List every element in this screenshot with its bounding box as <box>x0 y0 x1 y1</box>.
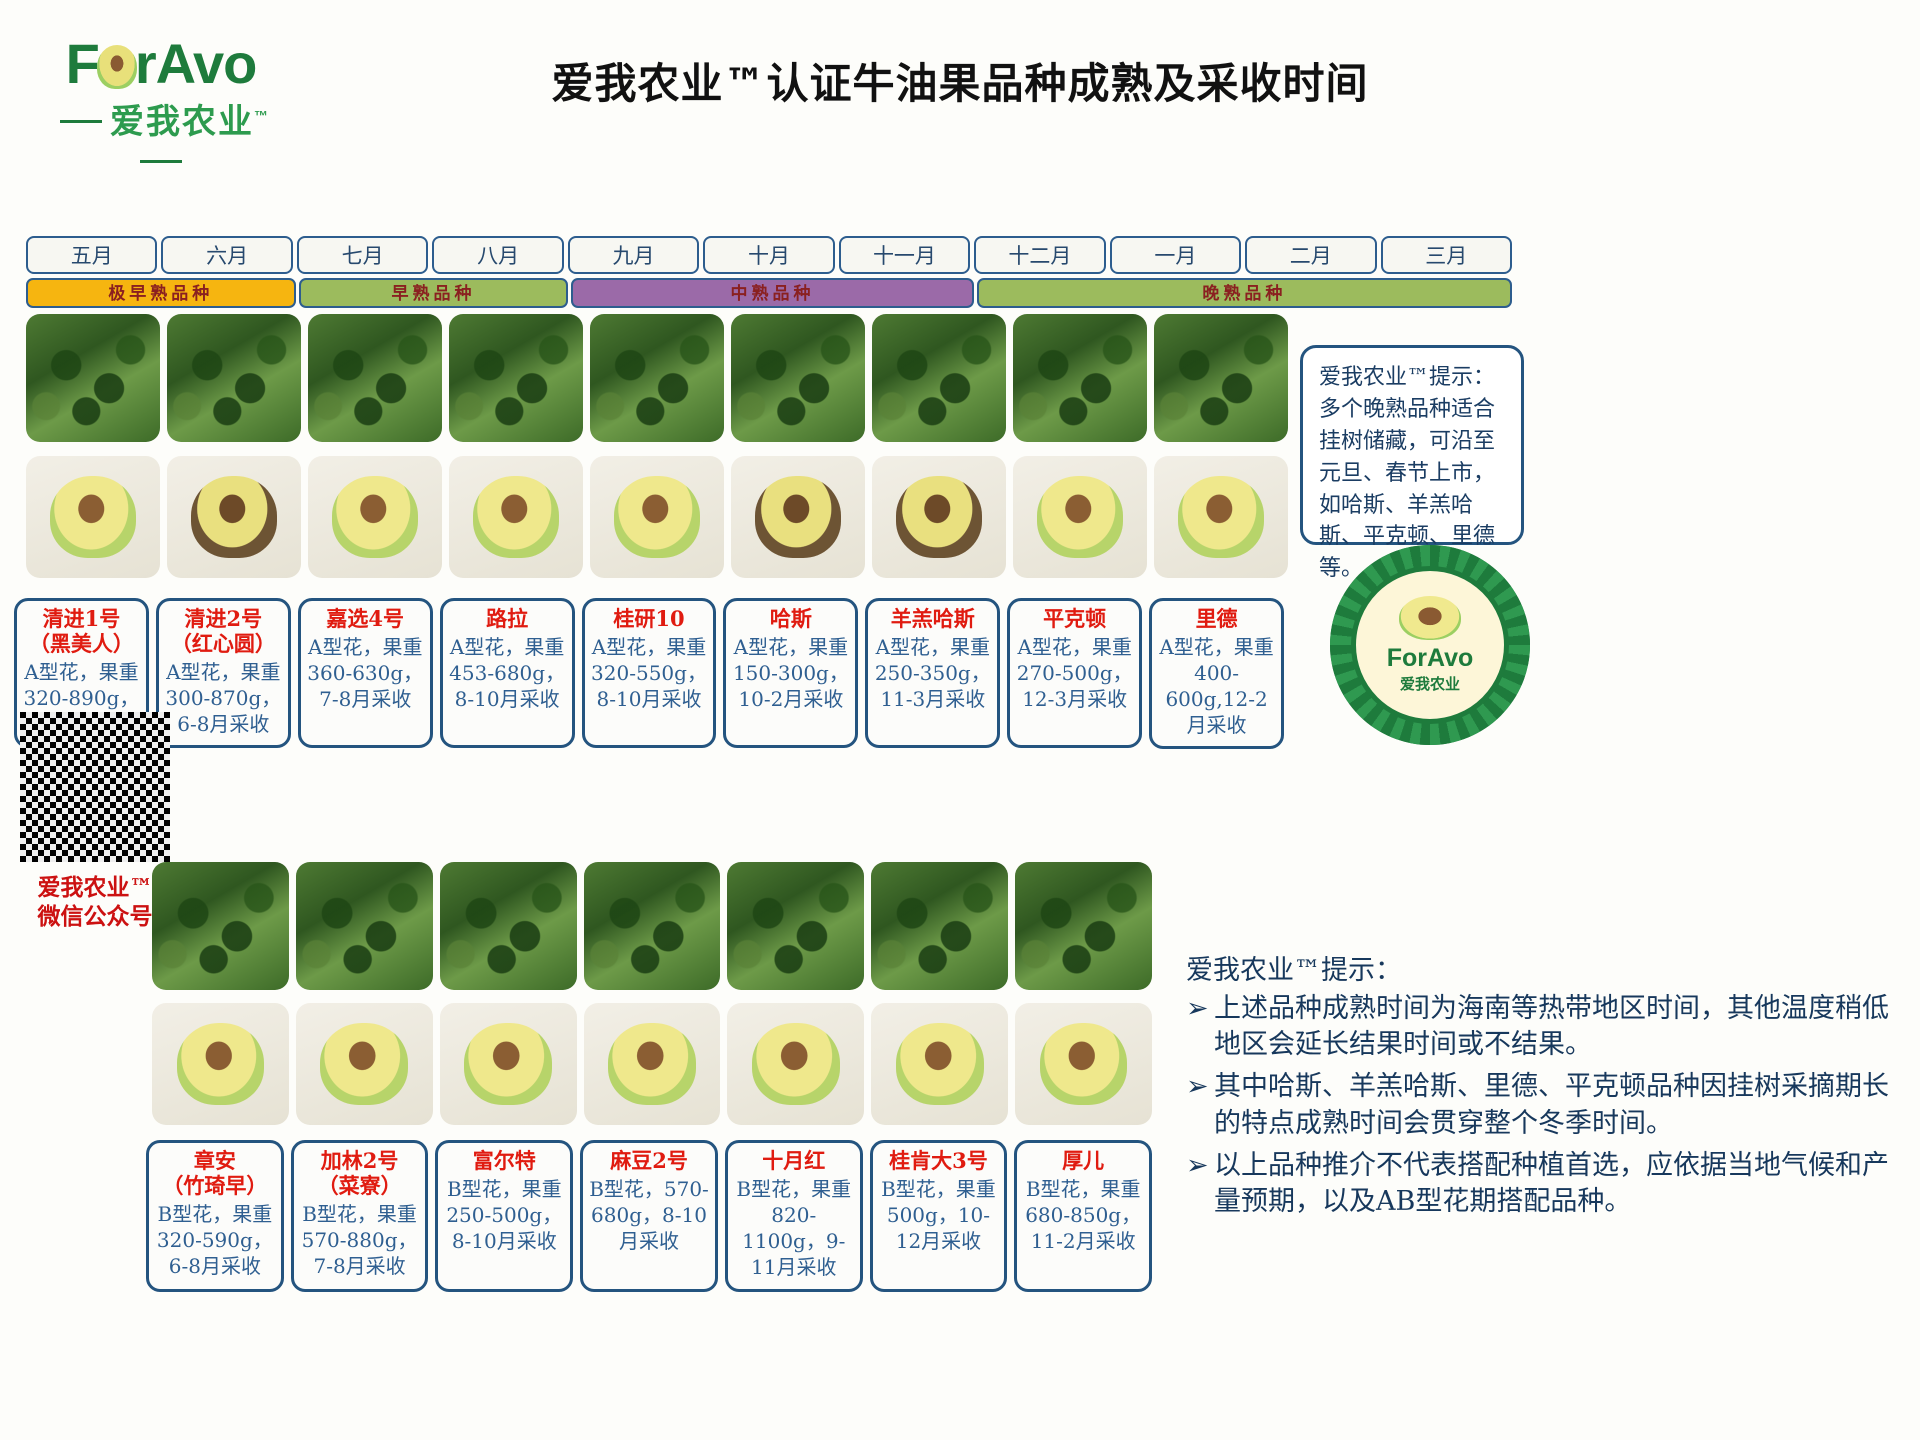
variety-description: A型花，果重250-350g，11-3月采收 <box>873 634 992 712</box>
arrow-bullet-icon: ➢ <box>1186 991 1214 1063</box>
fruit-photo <box>167 456 301 578</box>
row1-variety-cards: 清进1号（黑美人）A型花，果重320-890g，5-7月采收清进2号（红心圆）A… <box>14 598 1284 749</box>
variety-description: A型花，果重360-630g，7-8月采收 <box>306 634 425 712</box>
month-cell: 八月 <box>432 236 563 274</box>
variety-name: 富尔特 <box>443 1149 565 1174</box>
variety-name: 羊羔哈斯 <box>873 607 992 632</box>
logo-tm: ™ <box>254 108 270 124</box>
variety-name: 十月红 <box>733 1149 855 1174</box>
variety-description: B型花，果重250-500g，8-10月采收 <box>443 1176 565 1254</box>
tree-photo <box>1015 862 1152 990</box>
fruit-photo <box>731 456 865 578</box>
logo-subtitle-text: 爱我农业 <box>110 103 254 141</box>
season-band: 早熟品种 <box>299 278 569 308</box>
variety-card[interactable]: 哈斯A型花，果重150-300g，10-2月采收 <box>723 598 858 748</box>
tree-photo <box>584 862 721 990</box>
tree-photo <box>727 862 864 990</box>
row2-variety-cards: 章安（竹琦早）B型花，果重320-590g，6-8月采收加林2号（菜寮）B型花，… <box>146 1140 1152 1292</box>
season-band: 中熟品种 <box>571 278 973 308</box>
month-cell: 九月 <box>568 236 699 274</box>
variety-name: 章安 <box>154 1149 276 1174</box>
variety-card[interactable]: 章安（竹琦早）B型花，果重320-590g，6-8月采收 <box>146 1140 284 1292</box>
variety-description: A型花，果重400-600g,12-2月采收 <box>1157 634 1276 738</box>
timeline: 五月六月七月八月九月十月十一月十二月一月二月三月 极早熟品种早熟品种中熟品种晚熟… <box>26 236 1512 308</box>
fruit-photo <box>296 1003 433 1125</box>
variety-card[interactable]: 桂研10A型花，果重320-550g，8-10月采收 <box>582 598 717 748</box>
fruit-photo <box>872 456 1006 578</box>
tip-list-item: ➢上述品种成熟时间为海南等热带地区时间，其他温度稍低地区会延长结果时间或不结果。 <box>1186 991 1896 1063</box>
variety-alias: （黑美人） <box>22 632 141 657</box>
tree-photo <box>449 314 583 442</box>
tree-photo <box>1154 314 1288 442</box>
variety-description: A型花，果重270-500g，12-3月采收 <box>1015 634 1134 712</box>
variety-description: A型花，果重150-300g，10-2月采收 <box>731 634 850 712</box>
variety-name: 加林2号 <box>299 1149 421 1174</box>
variety-card[interactable]: 里德A型花，果重400-600g,12-2月采收 <box>1149 598 1284 749</box>
tips-heading: 爱我农业™提示： <box>1186 948 1896 987</box>
variety-card[interactable]: 清进2号（红心圆）A型花，果重300-870g，6-8月采收 <box>156 598 291 748</box>
fruit-photo <box>584 1003 721 1125</box>
month-cell: 三月 <box>1381 236 1512 274</box>
variety-alias: （红心圆） <box>164 632 283 657</box>
tree-photo <box>872 314 1006 442</box>
month-cell: 六月 <box>161 236 292 274</box>
tip-box-late-varieties: 爱我农业™提示：多个晚熟品种适合挂树储藏，可沿至元旦、春节上市，如哈斯、羊羔哈斯… <box>1300 345 1524 545</box>
seal-wordmark: ForAvo <box>1387 644 1474 673</box>
variety-card[interactable]: 平克顿A型花，果重270-500g，12-3月采收 <box>1007 598 1142 748</box>
month-cell: 十一月 <box>839 236 970 274</box>
logo-rule-left <box>60 120 102 123</box>
fruit-photo <box>727 1003 864 1125</box>
brand-seal-inner: ForAvo 爱我农业 <box>1351 566 1509 724</box>
season-band: 极早熟品种 <box>26 278 296 308</box>
variety-name: 厚儿 <box>1022 1149 1144 1174</box>
arrow-bullet-icon: ➢ <box>1186 1148 1214 1220</box>
fruit-photo <box>1154 456 1288 578</box>
variety-card[interactable]: 加林2号（菜寮）B型花，果重570-880g，7-8月采收 <box>291 1140 429 1292</box>
logo-wordmark: FrAvo <box>66 36 257 92</box>
logo-rule-right <box>140 160 182 163</box>
variety-name: 路拉 <box>448 607 567 632</box>
qr-code-icon <box>20 712 170 862</box>
wechat-qr-block: 爱我农业™ 微信公众号 <box>20 712 170 932</box>
variety-card[interactable]: 羊羔哈斯A型花，果重250-350g，11-3月采收 <box>865 598 1000 748</box>
variety-card[interactable]: 富尔特B型花，果重250-500g，8-10月采收 <box>435 1140 573 1292</box>
variety-name: 嘉选4号 <box>306 607 425 632</box>
variety-card[interactable]: 麻豆2号B型花，570-680g，8-10月采收 <box>580 1140 718 1292</box>
season-row: 极早熟品种早熟品种中熟品种晚熟品种 <box>26 278 1512 308</box>
tree-photo <box>26 314 160 442</box>
variety-card[interactable]: 桂肯大3号B型花，果重500g，10-12月采收 <box>870 1140 1008 1292</box>
variety-name: 平克顿 <box>1015 607 1134 632</box>
row2-tree-photo-strip <box>152 862 1152 990</box>
tip-list-item: ➢以上品种推介不代表搭配种植首选，应依据当地气候和产量预期，以及AB型花期搭配品… <box>1186 1148 1896 1220</box>
month-cell: 五月 <box>26 236 157 274</box>
tree-photo <box>296 862 433 990</box>
logo-subtitle: 爱我农业™ <box>26 94 296 182</box>
seal-subtitle: 爱我农业 <box>1400 673 1460 694</box>
variety-name: 里德 <box>1157 607 1276 632</box>
avocado-icon <box>1399 596 1461 640</box>
fruit-photo <box>449 456 583 578</box>
variety-card[interactable]: 路拉A型花，果重453-680g，8-10月采收 <box>440 598 575 748</box>
variety-card[interactable]: 十月红B型花，果重820-1100g，9-11月采收 <box>725 1140 863 1292</box>
tree-photo <box>167 314 301 442</box>
variety-alias: （菜寮） <box>299 1174 421 1199</box>
fruit-photo <box>26 456 160 578</box>
month-row: 五月六月七月八月九月十月十一月十二月一月二月三月 <box>26 236 1512 274</box>
page-title: 爱我农业™认证牛油果品种成熟及采收时间 <box>400 50 1520 111</box>
variety-description: B型花，果重500g，10-12月采收 <box>878 1176 1000 1254</box>
brand-logo: FrAvo 爱我农业™ <box>26 36 296 182</box>
row1-tree-photo-strip <box>26 314 1288 442</box>
tree-photo <box>440 862 577 990</box>
variety-name: 桂肯大3号 <box>878 1149 1000 1174</box>
tip-list-item-text: 上述品种成熟时间为海南等热带地区时间，其他温度稍低地区会延长结果时间或不结果。 <box>1214 991 1896 1063</box>
month-cell: 十二月 <box>974 236 1105 274</box>
variety-description: A型花，果重320-550g，8-10月采收 <box>590 634 709 712</box>
month-cell: 二月 <box>1245 236 1376 274</box>
row2-fruit-photo-strip <box>152 1003 1152 1125</box>
variety-name: 麻豆2号 <box>588 1149 710 1174</box>
variety-card[interactable]: 厚儿B型花，果重680-850g，11-2月采收 <box>1014 1140 1152 1292</box>
tips-items: ➢上述品种成熟时间为海南等热带地区时间，其他温度稍低地区会延长结果时间或不结果。… <box>1186 991 1896 1220</box>
fruit-photo <box>871 1003 1008 1125</box>
variety-alias: （竹琦早） <box>154 1174 276 1199</box>
month-cell: 一月 <box>1110 236 1241 274</box>
variety-description: B型花，570-680g，8-10月采收 <box>588 1176 710 1254</box>
fruit-photo <box>590 456 724 578</box>
tip-list-item: ➢其中哈斯、羊羔哈斯、里德、平克顿品种因挂树采摘期长的特点成熟时间会贯穿整个冬季… <box>1186 1069 1896 1141</box>
tips-list-block: 爱我农业™提示： ➢上述品种成熟时间为海南等热带地区时间，其他温度稍低地区会延长… <box>1186 948 1896 1226</box>
qr-caption-line2: 微信公众号 <box>20 903 170 932</box>
fruit-photo <box>152 1003 289 1125</box>
variety-description: B型花，果重680-850g，11-2月采收 <box>1022 1176 1144 1254</box>
fruit-photo <box>308 456 442 578</box>
month-cell: 十月 <box>703 236 834 274</box>
variety-description: B型花，果重820-1100g，9-11月采收 <box>733 1176 855 1280</box>
month-cell: 七月 <box>297 236 428 274</box>
tree-photo <box>308 314 442 442</box>
variety-description: B型花，果重570-880g，7-8月采收 <box>299 1201 421 1279</box>
fruit-photo <box>440 1003 577 1125</box>
qr-caption-line1: 爱我农业™ <box>20 874 170 903</box>
tree-photo <box>1013 314 1147 442</box>
variety-description: A型花，果重453-680g，8-10月采收 <box>448 634 567 712</box>
tip-list-item-text: 其中哈斯、羊羔哈斯、里德、平克顿品种因挂树采摘期长的特点成熟时间会贯穿整个冬季时… <box>1214 1069 1896 1141</box>
tip-list-item-text: 以上品种推介不代表搭配种植首选，应依据当地气候和产量预期，以及AB型花期搭配品种… <box>1214 1148 1896 1220</box>
variety-name: 清进2号 <box>164 607 283 632</box>
variety-name: 哈斯 <box>731 607 850 632</box>
tree-photo <box>731 314 865 442</box>
variety-description: B型花，果重320-590g，6-8月采收 <box>154 1201 276 1279</box>
row1-fruit-photo-strip <box>26 456 1288 578</box>
avocado-icon <box>97 45 137 89</box>
season-band: 晚熟品种 <box>977 278 1512 308</box>
tree-photo <box>871 862 1008 990</box>
fruit-photo <box>1013 456 1147 578</box>
variety-name: 清进1号 <box>22 607 141 632</box>
brand-seal: ForAvo 爱我农业 <box>1330 545 1530 745</box>
qr-caption: 爱我农业™ 微信公众号 <box>20 874 170 932</box>
variety-description: A型花，果重300-870g，6-8月采收 <box>164 659 283 737</box>
variety-card[interactable]: 嘉选4号A型花，果重360-630g，7-8月采收 <box>298 598 433 748</box>
fruit-photo <box>1015 1003 1152 1125</box>
tree-photo <box>152 862 289 990</box>
variety-name: 桂研10 <box>590 607 709 632</box>
arrow-bullet-icon: ➢ <box>1186 1069 1214 1141</box>
tree-photo <box>590 314 724 442</box>
